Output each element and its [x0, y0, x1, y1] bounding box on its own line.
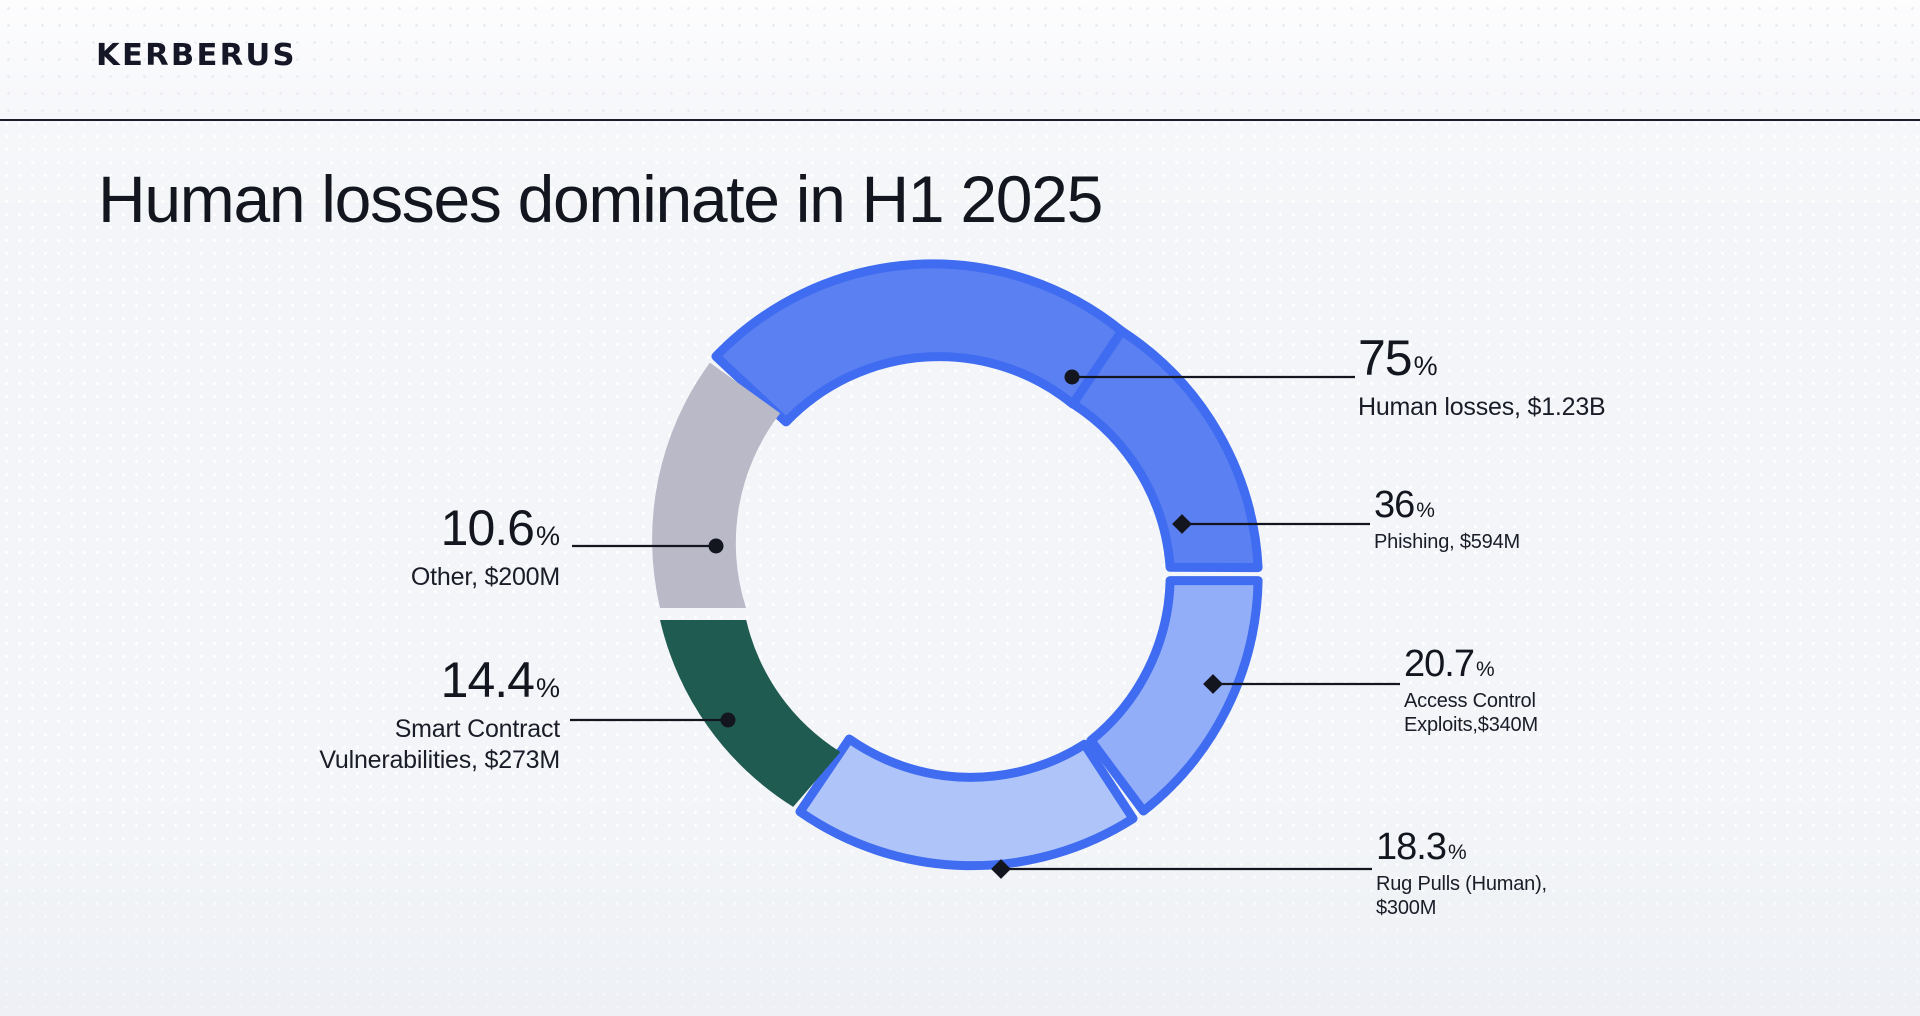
- label-smart-contract-value: 14.4: [441, 655, 534, 705]
- label-rug-pulls-value: 18.3: [1376, 828, 1446, 866]
- slice-access-control-exploits[interactable]: [1091, 581, 1258, 811]
- label-smart-contract-line2: Vulnerabilities, $273M: [319, 745, 560, 776]
- label-smart-contract-symbol: %: [536, 675, 560, 702]
- label-phishing-description: Phishing, $594M: [1374, 530, 1520, 554]
- label-phishing: 36 % Phishing, $594M: [1374, 486, 1520, 554]
- marker-smart-contract: [721, 713, 736, 728]
- chart-stage: 75 % Human losses, $1.23B 36 % Phishing,…: [0, 0, 1920, 1016]
- label-phishing-value: 36: [1374, 486, 1414, 524]
- label-access-control-symbol: %: [1476, 659, 1495, 680]
- label-rug-pulls-symbol: %: [1448, 842, 1467, 863]
- label-smart-contract-description: Smart Contract Vulnerabilities, $273M: [319, 714, 560, 775]
- label-other-value: 10.6: [441, 503, 534, 553]
- label-other-percent: 10.6 %: [411, 503, 560, 553]
- marker-human-losses: [1065, 370, 1080, 385]
- label-human-losses-symbol: %: [1414, 353, 1438, 380]
- slice-human-losses[interactable]: [716, 264, 1122, 422]
- label-human-losses-description: Human losses, $1.23B: [1358, 392, 1606, 423]
- donut-slices: [652, 264, 1258, 866]
- label-rug-pulls-description: Rug Pulls (Human), $300M: [1376, 872, 1547, 921]
- label-rug-pulls-human: 18.3 % Rug Pulls (Human), $300M: [1376, 828, 1547, 921]
- slice-rug-pulls-human[interactable]: [800, 739, 1133, 866]
- label-rug-pulls-line1: Rug Pulls (Human),: [1376, 872, 1547, 896]
- label-access-control-value: 20.7: [1404, 645, 1474, 683]
- slice-smart-contract-vulnerabilities[interactable]: [660, 620, 840, 807]
- label-access-control-percent: 20.7 %: [1404, 645, 1538, 683]
- label-smart-contract-line1: Smart Contract: [319, 714, 560, 745]
- label-access-control-line2: Exploits,$340M: [1404, 713, 1538, 737]
- label-human-losses-value: 75: [1358, 333, 1412, 383]
- label-rug-pulls-line2: $300M: [1376, 896, 1547, 920]
- label-human-losses-percent: 75 %: [1358, 333, 1606, 383]
- label-other-symbol: %: [536, 523, 560, 550]
- slice-phishing[interactable]: [1073, 331, 1258, 567]
- label-access-control-description: Access Control Exploits,$340M: [1404, 689, 1538, 738]
- label-other: 10.6 % Other, $200M: [411, 503, 560, 593]
- label-other-description: Other, $200M: [411, 562, 560, 593]
- label-phishing-percent: 36 %: [1374, 486, 1520, 524]
- label-smart-contract-vulnerabilities: 14.4 % Smart Contract Vulnerabilities, $…: [319, 655, 560, 775]
- label-access-control-line1: Access Control: [1404, 689, 1538, 713]
- label-human-losses: 75 % Human losses, $1.23B: [1358, 333, 1606, 423]
- label-phishing-symbol: %: [1416, 500, 1435, 521]
- marker-other: [709, 539, 724, 554]
- label-access-control-exploits: 20.7 % Access Control Exploits,$340M: [1404, 645, 1538, 738]
- label-smart-contract-percent: 14.4 %: [319, 655, 560, 705]
- donut-chart: [0, 0, 1920, 1016]
- label-rug-pulls-percent: 18.3 %: [1376, 828, 1547, 866]
